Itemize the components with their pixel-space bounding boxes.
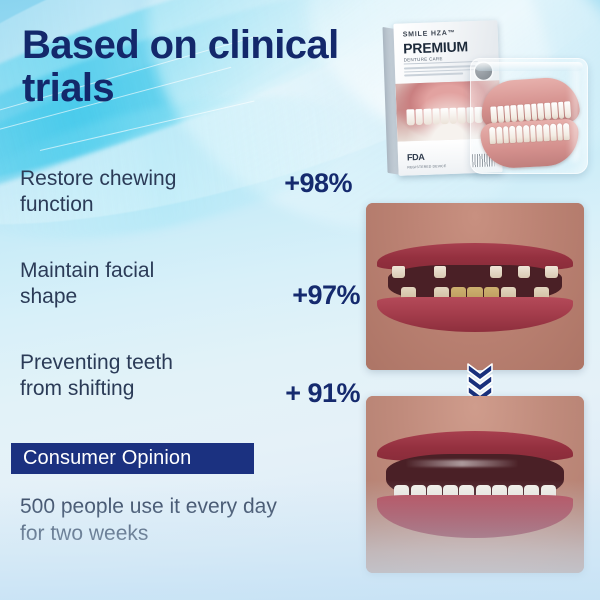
package-placeholder-text xyxy=(404,65,480,78)
consumer-opinion-text: 500 people use it every day for two week… xyxy=(20,494,350,548)
jar-glass xyxy=(470,58,588,174)
benefit-list: Restore chewing function +98% Maintain f… xyxy=(20,166,360,442)
page-title: Based on clinical trials xyxy=(22,24,382,110)
lower-denture-teeth xyxy=(489,123,570,144)
benefit-value: +97% xyxy=(292,280,360,311)
glass-highlight xyxy=(567,67,579,163)
before-photo xyxy=(366,203,584,370)
package-brand: SMILE HZA™ xyxy=(403,30,456,39)
advertisement-poster: Based on clinical trials Restore chewing… xyxy=(0,0,600,600)
before-upper-teeth xyxy=(392,266,558,284)
package-title: PREMIUM xyxy=(403,38,468,56)
consumer-opinion-label: Consumer Opinion xyxy=(11,447,191,470)
lower-denture-arch xyxy=(480,118,580,169)
teeth-gloss-highlight xyxy=(405,460,518,467)
benefit-label: Preventing teeth from shifting xyxy=(20,350,256,403)
after-photo xyxy=(366,396,584,573)
consumer-opinion-banner: Consumer Opinion xyxy=(11,443,254,474)
benefit-label: Maintain facial shape xyxy=(20,258,256,311)
benefit-value: + 91% xyxy=(285,378,360,409)
benefit-row: Maintain facial shape +97% xyxy=(20,258,360,350)
denture-model-jar xyxy=(470,58,588,174)
benefit-row: Restore chewing function +98% xyxy=(20,166,360,258)
benefit-value: +98% xyxy=(284,168,352,199)
benefit-label: Restore chewing function xyxy=(20,166,256,219)
fda-badge: FDA xyxy=(407,152,425,163)
benefit-row: Preventing teeth from shifting + 91% xyxy=(20,350,360,442)
